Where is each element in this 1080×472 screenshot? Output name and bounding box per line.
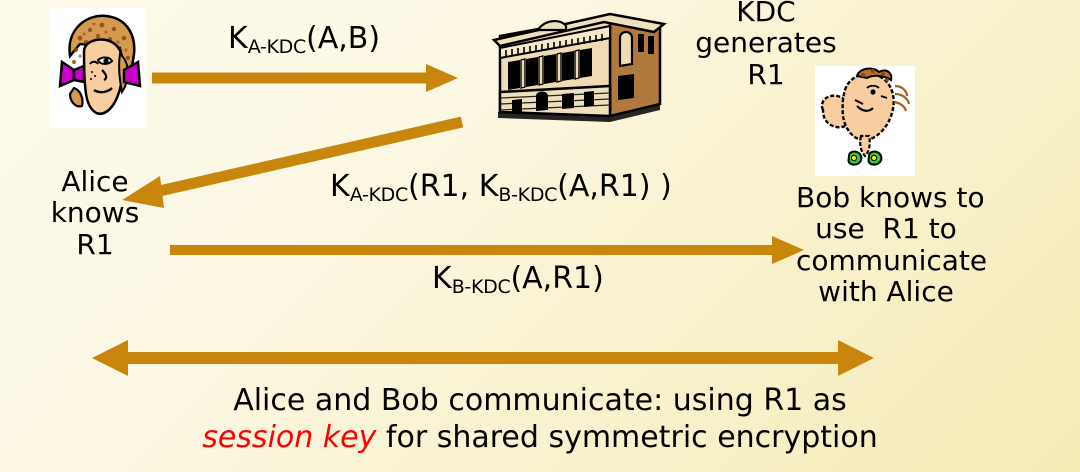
msg2-inner-key: K	[479, 169, 499, 204]
kdc-generates-label: KDC generates R1	[690, 0, 842, 90]
arrow-alice-to-bob	[170, 236, 804, 264]
footer-line-2: session key for shared symmetric encrypt…	[0, 421, 1080, 455]
msg1-key: K	[228, 21, 248, 56]
msg1-payload: (A,B)	[306, 21, 380, 56]
message-3-formula: KB-KDC(A,R1)	[432, 262, 604, 296]
kdc-building-icon	[478, 0, 668, 128]
kdc-key-distribution-diagram: each other.	[0, 0, 1080, 472]
msg2-key: K	[330, 169, 350, 204]
msg3-key: K	[432, 261, 452, 296]
msg2-key-subscript: A-KDC	[350, 184, 408, 206]
alice-knows-label: Alice knows R1	[24, 166, 166, 260]
arrow-alice-bob-bidirectional	[92, 340, 874, 376]
session-key-emphasis: session key	[202, 420, 376, 455]
msg2-inner-payload: (A,R1) )	[557, 169, 672, 204]
msg3-payload: (A,R1)	[510, 261, 603, 296]
msg2-inner-key-subscript: B-KDC	[498, 184, 557, 206]
message-1-formula: KA-KDC(A,B)	[228, 22, 380, 56]
bob-knows-label: Bob knows to use R1 to communicate with …	[796, 182, 976, 307]
msg2-payload-open: (R1,	[408, 169, 479, 204]
message-2-formula: KA-KDC(R1, KB-KDC(A,R1) )	[330, 170, 672, 204]
msg1-key-subscript: A-KDC	[248, 36, 306, 58]
footer-line-1: Alice and Bob communicate: using R1 as	[0, 384, 1080, 418]
arrow-alice-to-kdc	[152, 64, 458, 92]
footer-line-2-rest: for shared symmetric encryption	[376, 420, 877, 455]
msg3-key-subscript: B-KDC	[452, 276, 511, 298]
alice-face-icon	[50, 8, 146, 128]
